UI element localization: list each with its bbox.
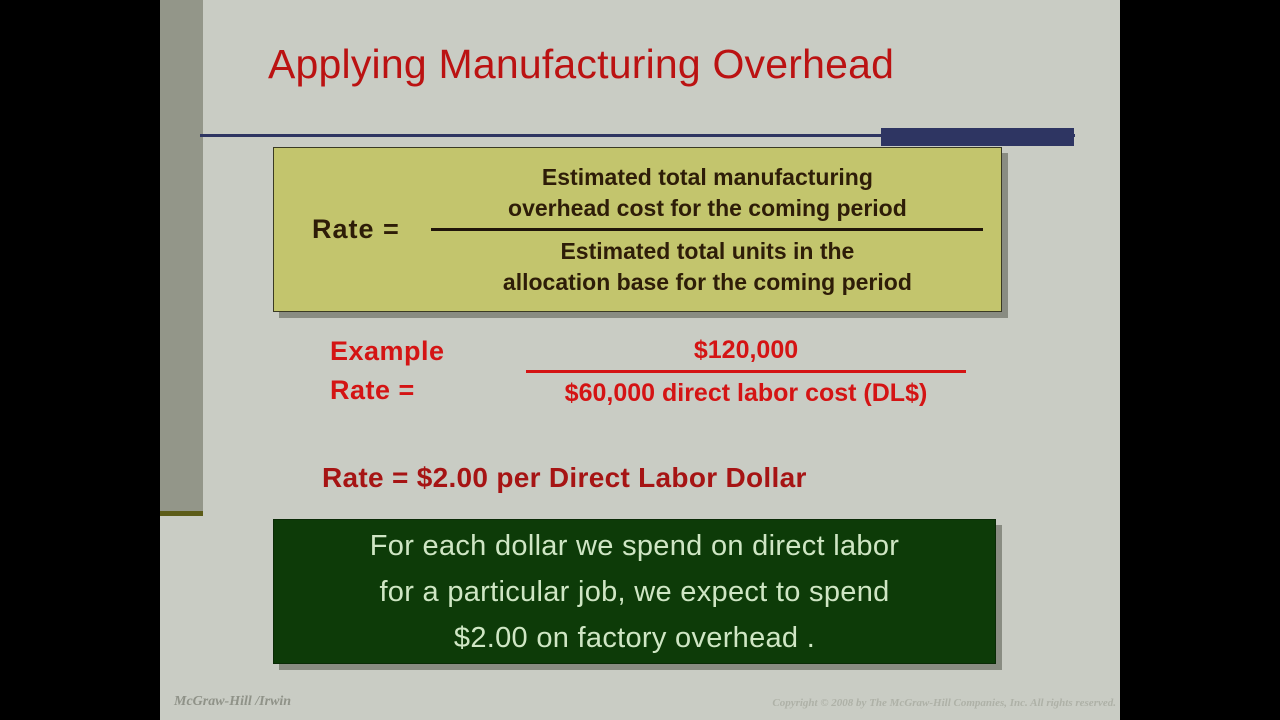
slide-title: Applying Manufacturing Overhead — [268, 38, 1088, 90]
rate-denominator-line-1: Estimated total units in the — [426, 236, 989, 267]
callout-panel: For each dollar we spend on direct labor… — [273, 519, 996, 664]
footer-brand: McGraw-Hill /Irwin — [174, 694, 291, 710]
rate-numerator-line-2: overhead cost for the coming period — [426, 193, 989, 224]
rate-formula-panel-body: Rate = Estimated total manufacturing ove… — [273, 147, 1002, 312]
left-decorative-band — [160, 0, 203, 512]
callout-panel-body: For each dollar we spend on direct labor… — [273, 519, 996, 664]
rate-fraction-bar — [431, 228, 983, 231]
rate-fraction: Estimated total manufacturing overhead c… — [426, 162, 989, 298]
example-label-line-2: Rate = — [330, 371, 510, 410]
rate-formula-panel: Rate = Estimated total manufacturing ove… — [273, 147, 1002, 312]
screen: Applying Manufacturing Overhead Rate = E… — [0, 0, 1280, 720]
callout-line-3: $2.00 on factory overhead . — [274, 615, 995, 661]
callout-line-1: For each dollar we spend on direct labor — [274, 523, 995, 569]
example-numerator: $120,000 — [496, 334, 996, 366]
callout-line-2: for a particular job, we expect to spend — [274, 569, 995, 615]
left-olive-bar — [160, 511, 203, 516]
slide-canvas: Applying Manufacturing Overhead Rate = E… — [160, 0, 1120, 720]
example-fraction-bar — [526, 370, 966, 373]
footer-copyright: Copyright © 2008 by The McGraw-Hill Comp… — [772, 697, 1116, 709]
example-denominator: $60,000 direct labor cost (DL$) — [496, 377, 996, 409]
title-accent-block — [881, 128, 1074, 146]
rate-denominator-line-2: allocation base for the coming period — [426, 267, 989, 298]
rate-numerator-line-1: Estimated total manufacturing — [426, 162, 989, 193]
example-rate-label: Example Rate = — [330, 332, 510, 410]
rate-label: Rate = — [312, 214, 426, 245]
example-label-line-1: Example — [330, 336, 445, 366]
rate-result-line: Rate = $2.00 per Direct Labor Dollar — [322, 462, 1082, 494]
example-rate-block: Example Rate = $120,000 $60,000 direct l… — [320, 332, 1100, 432]
callout-text: For each dollar we spend on direct labor… — [274, 523, 995, 661]
example-fraction: $120,000 $60,000 direct labor cost (DL$) — [496, 334, 996, 409]
